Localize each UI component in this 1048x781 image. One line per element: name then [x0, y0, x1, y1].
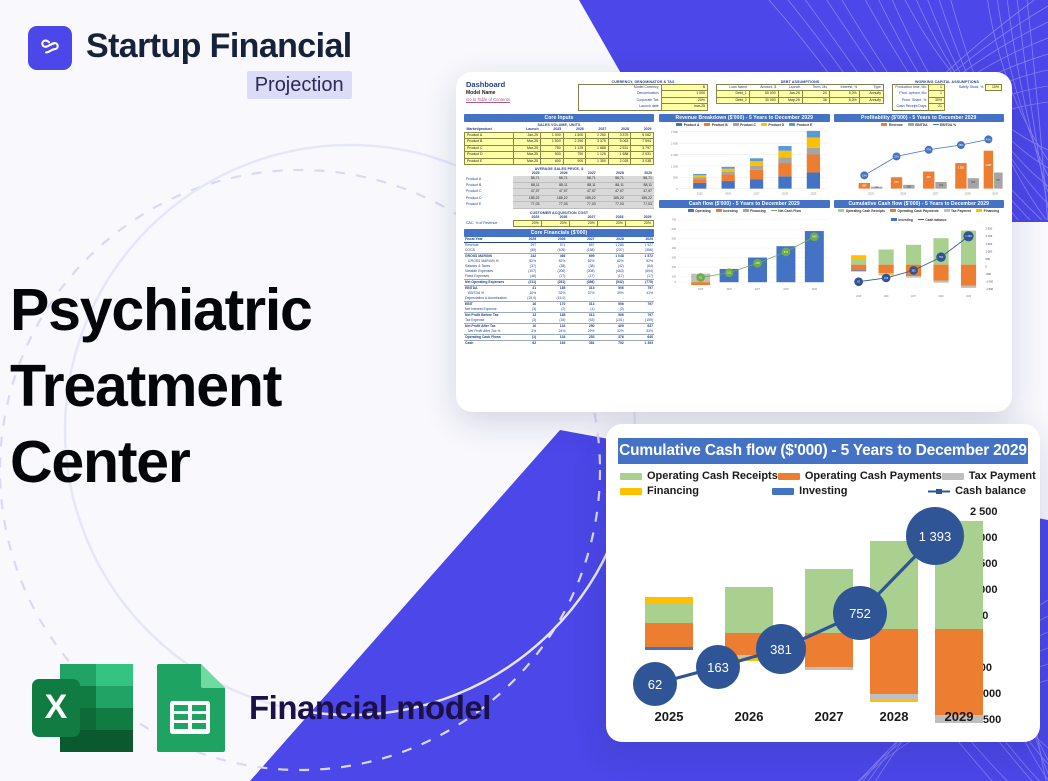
svg-text:32%: 32%	[894, 155, 900, 158]
cell-value[interactable]: mar-25	[661, 104, 707, 110]
legend-label: EBITDA	[915, 123, 927, 127]
mini-chart-plot: 2 5002 0001 500 1 0005000 -500-1 000-1 5…	[834, 223, 1005, 303]
format-badges: X Financial model	[30, 662, 491, 754]
svg-text:2026: 2026	[726, 287, 732, 290]
brand-lockup: Startup Financial Projection	[28, 26, 352, 99]
mini-chart-plot: 700600500 400300200 1000	[659, 214, 830, 294]
legend-item: Investing	[772, 485, 928, 497]
svg-text:1 393: 1 393	[965, 234, 972, 238]
legend-item: Operating Cash Receipts	[620, 470, 778, 482]
debt-assumptions-table: Loan Name Amount, $ Launch Term, Mo Inte…	[716, 84, 884, 104]
svg-text:163: 163	[883, 276, 888, 280]
cell-value[interactable]: May-25	[778, 97, 802, 103]
legend-label: Revenue	[889, 123, 903, 127]
cell-value[interactable]: 1 350	[586, 158, 609, 164]
bar-investing-2025	[645, 647, 693, 650]
poster-canvas: Startup Financial Projection Psychiatric…	[0, 0, 1048, 781]
model-name-label: Model Name	[466, 90, 570, 96]
svg-text:752: 752	[938, 255, 943, 259]
line-marker-icon	[928, 488, 950, 495]
legend-label: Product D	[768, 123, 784, 127]
cell-value[interactable]: 900	[563, 158, 586, 164]
svg-text:10%: 10%	[861, 174, 867, 177]
legend-label: Operating	[695, 209, 711, 213]
cell-value[interactable]: 21	[929, 104, 945, 110]
svg-text:2025: 2025	[868, 191, 874, 195]
cell-value: 77,03	[626, 202, 654, 208]
table-row: CAC, % of Revenue 20% 20% 20% 20% 20%	[464, 220, 654, 226]
mini-chart-title: Revenue Breakdown ($'000) - 5 Years to D…	[659, 114, 830, 122]
mini-chart-revenue-breakdown: Revenue Breakdown ($'000) - 5 Years to D…	[659, 114, 830, 198]
svg-text:-1 500: -1 500	[985, 287, 993, 291]
table-row: Product E Mar-25 600 900 1 350 2 025 3 0…	[465, 158, 654, 164]
svg-text:2029: 2029	[965, 296, 971, 298]
mini-chart-title: Profitability ($'000) - 5 Years to Decem…	[834, 114, 1005, 122]
cell-value[interactable]: 10%	[986, 85, 1002, 91]
mini-chart-cash-flow: Cash flow ($'000) - 5 Years to December …	[659, 200, 830, 303]
cell-value[interactable]: 36	[802, 97, 829, 103]
cell-value: 381	[566, 341, 595, 347]
svg-text:300: 300	[672, 255, 677, 259]
svg-text:2025: 2025	[856, 296, 862, 298]
svg-text:2026: 2026	[725, 191, 731, 195]
bar-financing-2028	[870, 700, 918, 702]
mini-chart-plot: 2 5002 000 1 5001 000 5000	[659, 128, 830, 198]
svg-text:2 500: 2 500	[671, 130, 679, 134]
svg-text:41%: 41%	[985, 138, 991, 141]
mini-chart-plot: 2975718571 2851 927 31185313506797	[834, 128, 1005, 198]
legend-item: Operating Cash Payments	[778, 470, 942, 482]
cell-value: 77,03	[570, 202, 598, 208]
cell-value[interactable]: 20%	[541, 220, 569, 226]
average-price-table: 2025 2026 2027 2028 2029 Product A 58,71…	[464, 171, 654, 208]
svg-text:640: 640	[812, 234, 817, 238]
svg-text:2029: 2029	[810, 191, 816, 195]
row-label: Net Operating Expenses	[464, 280, 508, 286]
svg-text:1 285: 1 285	[957, 166, 964, 169]
x-axis-tick-labels: 2025 2026 2027 2028 2029	[655, 709, 974, 724]
svg-text:0: 0	[676, 187, 678, 191]
legend-label: Investing	[723, 209, 737, 213]
core-financials-band: Core Financials ($'000)	[464, 229, 654, 237]
svg-text:297: 297	[862, 184, 867, 187]
svg-text:2028: 2028	[938, 296, 944, 298]
legend-item: Cash balance	[928, 485, 1026, 497]
svg-text:500: 500	[672, 236, 677, 240]
working-capital-table: Production time, Mo1 Prod. upfront, Mo1 …	[892, 84, 945, 111]
core-financials-table: Fiscal Year20252026202720282029Revenue29…	[464, 237, 654, 346]
svg-text:700: 700	[672, 217, 677, 221]
legend-label: EBITDA %	[940, 123, 956, 127]
core-inputs-band: Core Inputs	[464, 114, 654, 122]
svg-text:1 000: 1 000	[671, 164, 679, 168]
excel-x-glyph: X	[45, 688, 68, 726]
cumulative-cash-flow-card: Cumulative Cash flow ($'000) - 5 Years t…	[606, 424, 1040, 742]
svg-text:2026: 2026	[883, 296, 889, 298]
svg-text:2 000: 2 000	[985, 234, 992, 238]
cell-value[interactable]: 3 038	[631, 158, 654, 164]
brand-logo-icon	[28, 26, 72, 70]
cell-label: Safety Stock, %	[948, 85, 986, 91]
svg-text:381: 381	[911, 268, 916, 272]
x-tick: 2025	[655, 709, 684, 724]
legend-label: Tax Payment	[969, 470, 1036, 482]
cell-value[interactable]: Annuity	[859, 97, 883, 103]
cell-value[interactable]: 600	[541, 158, 564, 164]
svg-text:1 500: 1 500	[985, 242, 992, 246]
cell-value[interactable]: Debt_2	[717, 97, 750, 103]
bar-tax-2028	[870, 694, 918, 700]
legend-label: Financing	[647, 485, 699, 497]
x-tick: 2028	[880, 709, 909, 724]
data-label: 381	[770, 642, 792, 657]
row-label: CAC, % of Revenue	[464, 220, 513, 226]
svg-text:37%: 37%	[926, 148, 932, 151]
bar-tax-2027	[805, 667, 853, 670]
legend-label: Investing	[898, 218, 912, 222]
brand-subtitle: Projection	[247, 71, 352, 99]
svg-text:371: 371	[784, 250, 789, 254]
svg-text:2 500: 2 500	[985, 226, 992, 230]
svg-text:-500: -500	[985, 272, 991, 276]
bar-payments-2028	[870, 629, 918, 694]
table-row: Product E 77,03 77,03 77,03 77,03 77,03	[464, 202, 654, 208]
microsoft-excel-icon: X	[30, 662, 135, 754]
svg-text:600: 600	[672, 227, 677, 231]
data-label: 752	[849, 606, 871, 621]
row-label[interactable]: Product E	[465, 158, 514, 164]
svg-text:2028: 2028	[782, 191, 788, 195]
cell-value[interactable]: 20%	[513, 220, 541, 226]
data-label: 163	[707, 660, 729, 675]
svg-text:218: 218	[755, 261, 760, 265]
x-tick: 2026	[735, 709, 764, 724]
legend-item: Tax Payment	[942, 470, 1036, 482]
page-title: Psychiatric Treatment Center	[10, 272, 410, 500]
legend-label: Operating Cash Payments	[897, 209, 938, 213]
mini-chart-profitability: Profitability ($'000) - 5 Years to Decem…	[834, 114, 1005, 198]
legend-label: Operating Cash Receipts	[846, 209, 885, 213]
svg-text:1 000: 1 000	[985, 249, 992, 253]
svg-text:1 500: 1 500	[671, 153, 679, 157]
row-label: Product E	[464, 202, 513, 208]
cumulative-cash-flow-plot: 2 500 2 000 1 500 1 000 500 0 -500 -1 00…	[618, 501, 1028, 725]
svg-text:200: 200	[672, 265, 677, 269]
x-tick: 2027	[815, 709, 844, 724]
svg-text:400: 400	[672, 246, 677, 250]
bar-receipts-2026	[725, 587, 773, 633]
cell-value[interactable]: 20%	[625, 220, 653, 226]
svg-text:0: 0	[675, 280, 677, 284]
legend-label: Product E	[797, 123, 813, 127]
cell-value: 77,03	[542, 202, 570, 208]
svg-text:857: 857	[926, 176, 931, 179]
mini-chart-legend: Product A Product B Product C Product D …	[659, 123, 830, 127]
legend-label: Financing	[750, 209, 766, 213]
currency-assumptions-table: Model Currency$ Denomination1 000 Corpor…	[578, 84, 708, 111]
svg-text:2027: 2027	[911, 296, 917, 298]
format-badges-label: Financial model	[249, 689, 491, 727]
mini-chart-legend: Revenue EBITDA EBITDA %	[834, 123, 1005, 127]
svg-text:2025: 2025	[698, 287, 704, 290]
mini-chart-legend: Operating Cash Receipts Operating Cash P…	[834, 209, 1005, 222]
bar-payments-2025	[645, 623, 693, 647]
dashboard-screenshot-card: Dashboard Model Name Go to Table of Cont…	[456, 72, 1012, 412]
svg-text:2025: 2025	[697, 191, 703, 195]
toc-link[interactable]: Go to Table of Contents	[466, 97, 570, 102]
cac-table: 2025 2026 2027 2028 2029 CAC, % of Reven…	[464, 215, 654, 228]
legend-label: Net Cash Flow	[778, 209, 801, 213]
row-label: Cash	[464, 341, 508, 347]
x-tick: 2029	[945, 709, 974, 724]
bar-receipts-2025	[645, 604, 693, 623]
legend-label: Investing	[799, 485, 847, 497]
svg-text:2028: 2028	[783, 287, 789, 290]
svg-text:2026: 2026	[900, 191, 906, 195]
legend-label: Operating Cash Payments	[805, 470, 942, 482]
bar-payments-2027	[805, 633, 853, 667]
svg-text:2027: 2027	[755, 287, 761, 290]
cell-value: 77,03	[513, 202, 541, 208]
sales-volume-table: Market/product Launch 2025 2026 2027 202…	[464, 127, 654, 165]
google-sheets-icon	[153, 662, 227, 754]
svg-text:39%: 39%	[958, 144, 964, 147]
bar-financing-2025	[645, 597, 693, 604]
cell-value[interactable]: 20%	[597, 220, 625, 226]
svg-text:571: 571	[894, 181, 899, 184]
legend-label: Operating Cash Receipts	[647, 470, 778, 482]
mini-chart-title: Cumulative Cash flow ($'000) - 5 Years t…	[834, 200, 1005, 208]
chart-legend: Operating Cash Receipts Operating Cash P…	[620, 470, 1026, 497]
legend-item: Financing	[620, 485, 772, 497]
cell-label: Production time, Mo	[893, 85, 929, 91]
cell-value[interactable]: 20%	[569, 220, 597, 226]
mini-chart-title: Cash flow ($'000) - 5 Years to December …	[659, 200, 830, 208]
svg-text:2027: 2027	[932, 191, 938, 195]
legend-label: Product C	[740, 123, 756, 127]
svg-text:2 500: 2 500	[970, 506, 998, 518]
safety-stock-table: Safety Stock, % 10%	[948, 84, 1002, 91]
cell-value: 752	[596, 341, 625, 347]
legend-label: Product A	[684, 123, 700, 127]
row-label: Depreciation & Amortization	[464, 296, 508, 302]
svg-text:2 000: 2 000	[671, 141, 679, 145]
data-label: 1 393	[919, 529, 952, 544]
cell-value: 62	[508, 341, 537, 347]
table-row: Cash621633817521 393	[464, 341, 654, 347]
infinity-loop-icon	[36, 34, 64, 62]
legend-label: Financing	[984, 209, 1000, 213]
chart-title: Cumulative Cash flow ($'000) - 5 Years t…	[618, 438, 1028, 464]
cell-label: Cash Receipt Days	[893, 104, 929, 110]
cell-value[interactable]: 5,0%	[829, 97, 859, 103]
legend-label: Tax Payment	[951, 209, 971, 213]
cell-value: 77,03	[598, 202, 626, 208]
svg-text:2028: 2028	[964, 191, 970, 195]
cell-value: 163	[537, 341, 566, 347]
svg-text:0: 0	[985, 264, 987, 268]
cell-value[interactable]: Mar-25	[514, 158, 541, 164]
svg-text:2027: 2027	[754, 191, 760, 195]
bar-payments-2029	[935, 629, 983, 715]
svg-text:100: 100	[672, 274, 677, 278]
svg-text:101: 101	[727, 270, 732, 274]
svg-text:1 927: 1 927	[985, 164, 992, 167]
data-label: 62	[648, 677, 662, 692]
svg-text:2029: 2029	[812, 287, 818, 290]
svg-text:500: 500	[673, 175, 678, 179]
legend-label: Cash balance	[925, 218, 946, 222]
dashboard-title: Dashboard	[466, 80, 570, 89]
svg-text:-1 000: -1 000	[985, 279, 993, 283]
legend-label: Cash balance	[955, 485, 1026, 497]
mini-chart-legend: Operating Investing Financing Net Cash F…	[659, 209, 830, 213]
svg-text:2029: 2029	[992, 191, 998, 195]
cell-value: 1 393	[625, 341, 654, 347]
cell-value[interactable]: 30 000	[749, 97, 778, 103]
legend-label: Product B	[712, 123, 728, 127]
svg-text:500: 500	[985, 257, 990, 261]
mini-chart-cumulative-cash: Cumulative Cash flow ($'000) - 5 Years t…	[834, 200, 1005, 303]
brand-title: Startup Financial	[86, 26, 352, 66]
cell-label: Launch date	[579, 104, 662, 110]
cell-value[interactable]: 2 025	[608, 158, 631, 164]
